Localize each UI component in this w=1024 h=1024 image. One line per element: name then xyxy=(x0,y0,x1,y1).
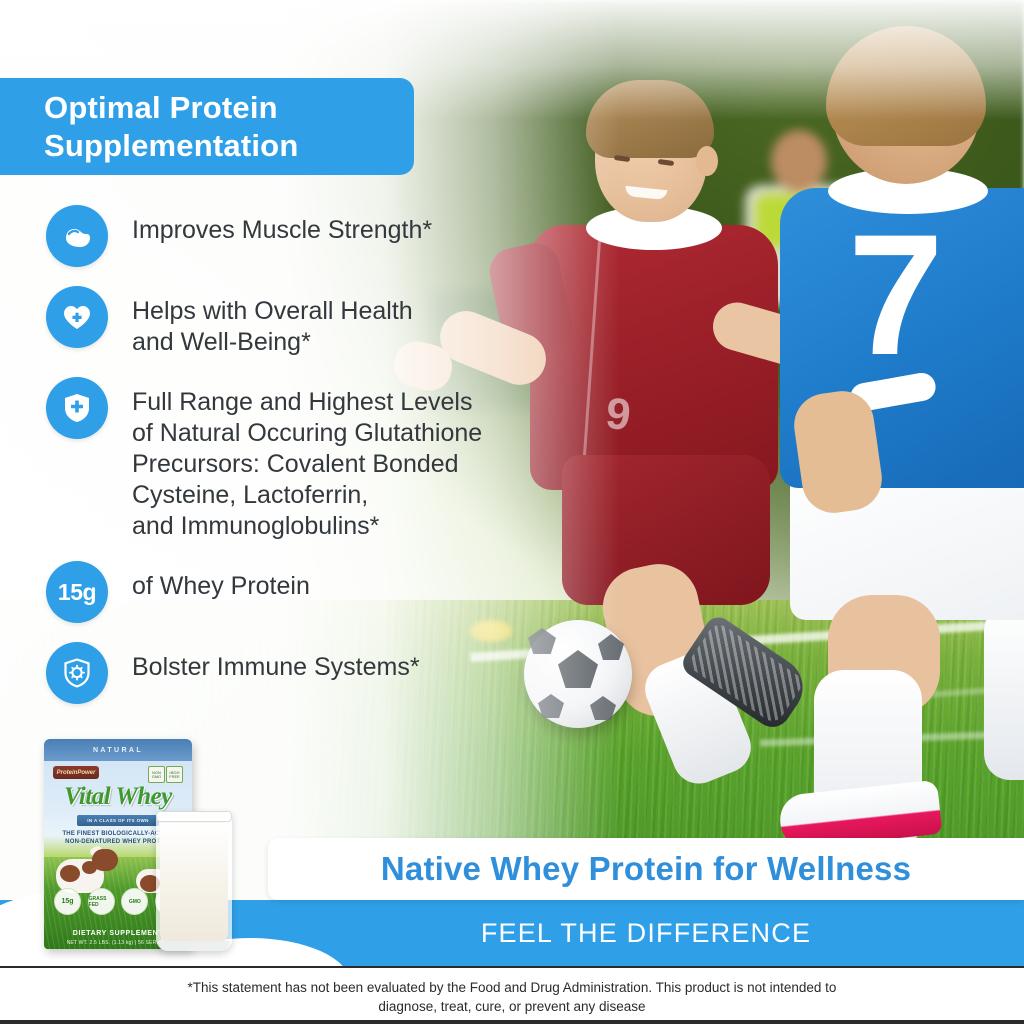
shield-cross-icon xyxy=(46,377,108,439)
rbgh-free-seal-icon: rBGH FREE xyxy=(166,766,183,783)
benefit-line: Helps with Overall Health xyxy=(132,296,413,327)
benefit-line: Cysteine, Lactoferrin, xyxy=(132,480,482,511)
fda-disclaimer: *This statement has not been evaluated b… xyxy=(0,978,1024,1016)
product-name: Vital Whey xyxy=(44,783,192,811)
benefit-line: Full Range and Highest Levels xyxy=(132,387,482,418)
header-title-line2: Supplementation xyxy=(44,127,414,165)
pouch-natural-label: NATURAL xyxy=(93,747,143,754)
jersey-number-blue: 7 xyxy=(848,220,944,370)
footer-headline-banner: Native Whey Protein for Wellness xyxy=(268,838,1024,900)
benefit-text: Improves Muscle Strength* xyxy=(132,205,432,246)
disclaimer-line1: *This statement has not been evaluated b… xyxy=(0,978,1024,997)
header-title-line1: Optimal Protein xyxy=(44,89,414,127)
product-badge: GRASS FED xyxy=(88,888,115,915)
disclaimer-line2: diagnose, treat, cure, or prevent any di… xyxy=(0,997,1024,1016)
product-shot: NATURAL ProteinPower NON GMO rBGH FREE V… xyxy=(36,733,226,963)
brand-logo: ProteinPower xyxy=(53,766,99,779)
glass-rim xyxy=(156,811,232,822)
product-badge-label: GRASS FED xyxy=(89,896,114,908)
benefit-text: Helps with Overall Health and Well-Being… xyxy=(132,286,413,358)
player-blue-jersey: 7 xyxy=(770,20,1024,820)
footer-tagline-banner: FEEL THE DIFFERENCE xyxy=(268,902,1024,964)
benefit-text: Bolster Immune Systems* xyxy=(132,642,420,683)
benefit-item: 15g of Whey Protein xyxy=(46,561,566,623)
brand-name: ProteinPower xyxy=(57,770,96,776)
header-banner: Optimal Protein Supplementation xyxy=(0,78,414,175)
benefit-item: Helps with Overall Health and Well-Being… xyxy=(46,286,566,358)
benefit-text: of Whey Protein xyxy=(132,561,310,602)
footer-headline: Native Whey Protein for Wellness xyxy=(381,850,911,888)
product-tagline-line2: NON-DENATURED WHEY PROTEIN xyxy=(65,839,171,845)
benefit-line: and Well-Being* xyxy=(132,327,413,358)
benefit-item: Improves Muscle Strength* xyxy=(46,205,566,267)
benefit-item: Bolster Immune Systems* xyxy=(46,642,566,704)
benefits-list: Improves Muscle Strength* Helps with Ove… xyxy=(46,205,566,723)
benefit-line: Precursors: Covalent Bonded xyxy=(132,449,482,480)
benefit-line: Improves Muscle Strength* xyxy=(132,215,432,246)
product-badge: GMO xyxy=(121,888,148,915)
product-badge-label: GMO xyxy=(129,899,141,905)
product-ribbon: IN A CLASS OF ITS OWN xyxy=(77,815,159,826)
heart-plus-icon xyxy=(46,286,108,348)
grams-badge-icon: 15g xyxy=(46,561,108,623)
benefit-line: of Whey Protein xyxy=(132,571,310,602)
disclaimer-divider-top xyxy=(0,966,1024,968)
milk-fill xyxy=(160,823,228,943)
infographic-canvas: 9 7 Optimal Prote xyxy=(0,0,1024,1024)
non-gmo-seal-icon: NON GMO xyxy=(148,766,165,783)
milk-glass xyxy=(156,811,232,951)
product-ribbon-label: IN A CLASS OF ITS OWN xyxy=(87,818,149,823)
grams-badge-label: 15g xyxy=(58,579,96,606)
shield-virus-icon xyxy=(46,642,108,704)
glass-base xyxy=(158,941,230,951)
product-badge: 15g xyxy=(54,888,81,915)
disclaimer-divider-bottom xyxy=(0,1020,1024,1024)
benefit-line: Bolster Immune Systems* xyxy=(132,652,420,683)
pouch-top-strip: NATURAL xyxy=(44,739,192,761)
benefit-item: Full Range and Highest Levels of Natural… xyxy=(46,377,566,542)
benefit-text: Full Range and Highest Levels of Natural… xyxy=(132,377,482,542)
footer-tagline: FEEL THE DIFFERENCE xyxy=(481,918,811,949)
benefit-line: of Natural Occuring Glutathione xyxy=(132,418,482,449)
benefit-line: and Immunoglobulins* xyxy=(132,511,482,542)
muscle-bicep-icon xyxy=(46,205,108,267)
